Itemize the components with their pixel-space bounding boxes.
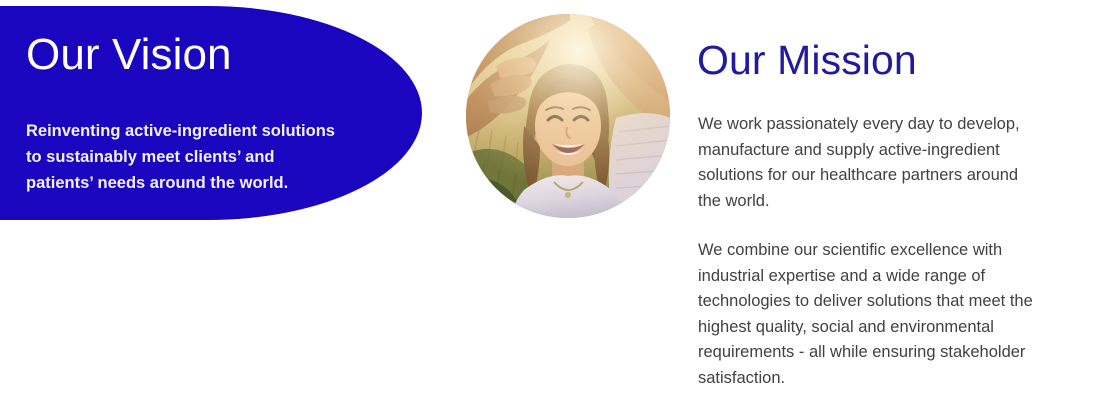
mission-paragraph-line: highest quality, social and environmenta… <box>698 315 1102 341</box>
mission-paragraph-line: technologies to deliver solutions that m… <box>698 289 1102 315</box>
portrait-photo-image <box>466 14 670 218</box>
mission-paragraph-line: manufacture and supply active-ingredient <box>698 138 1102 164</box>
mission-column: Our Mission We work passionately every d… <box>697 0 1101 416</box>
mission-paragraph-line: requirements - all while ensuring stakeh… <box>698 340 1102 366</box>
mission-paragraph-2: We combine our scientific excellence wit… <box>698 238 1102 391</box>
vision-panel: Our Vision Reinventing active-ingredient… <box>0 6 422 220</box>
vision-mission-section: Our Vision Reinventing active-ingredient… <box>0 0 1120 416</box>
mission-paragraph-line: solutions for our healthcare partners ar… <box>698 163 1102 189</box>
mission-paragraph-line: We combine our scientific excellence wit… <box>698 238 1102 264</box>
vision-heading: Our Vision <box>26 30 232 80</box>
vision-body-line: to sustainably meet clients’ and <box>26 144 376 170</box>
mission-paragraph-line: industrial expertise and a wide range of <box>698 264 1102 290</box>
mission-heading: Our Mission <box>697 36 917 84</box>
mission-paragraph-line: We work passionately every day to develo… <box>698 112 1102 138</box>
mission-paragraph-line: the world. <box>698 189 1102 215</box>
vision-body-text: Reinventing active-ingredient solutions … <box>26 118 376 196</box>
vision-body-line: Reinventing active-ingredient solutions <box>26 118 376 144</box>
mission-paragraph-1: We work passionately every day to develo… <box>698 112 1102 214</box>
vision-body-line: patients’ needs around the world. <box>26 170 376 196</box>
portrait-photo-circle <box>466 14 670 218</box>
mission-paragraph-line: satisfaction. <box>698 366 1102 392</box>
